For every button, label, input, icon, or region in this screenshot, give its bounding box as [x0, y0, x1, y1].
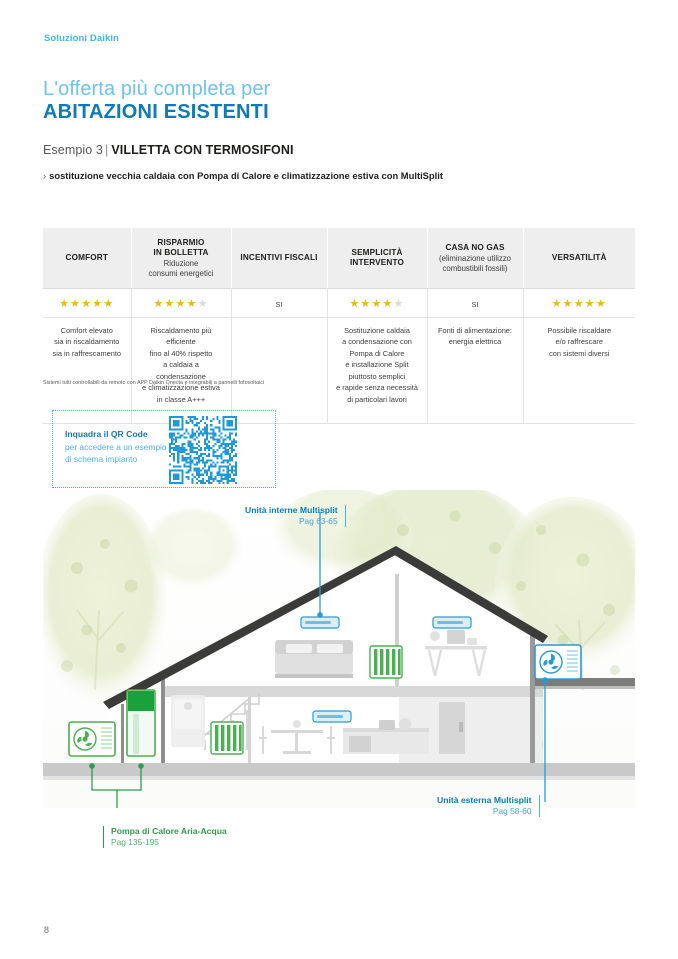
- qr-title: Inquadra il QR Code: [65, 429, 183, 441]
- indoor-unit-attic-right: [433, 617, 471, 628]
- example-name: VILLETTA CON TERMOSIFONI: [111, 143, 293, 157]
- page-title: ABITAZIONI ESISTENTI: [43, 101, 269, 124]
- example-label: Esempio 3: [43, 143, 103, 157]
- benefits-table: COMFORT RISPARMIO IN BOLLETTA Riduzione …: [43, 228, 635, 424]
- benefits-table-wrapper: COMFORT RISPARMIO IN BOLLETTA Riduzione …: [43, 228, 635, 424]
- description-cell-4: Fonti di alimentazione:energia elettrica: [427, 318, 523, 424]
- column-header-versatilita-title: VERSATILITÀ: [530, 253, 630, 263]
- rating-cell-3: ★★★★★: [327, 289, 427, 318]
- rating-cell-4: SI: [427, 289, 523, 318]
- example-bullet: ›sostituzione vecchia caldaia con Pompa …: [43, 170, 443, 181]
- indoor-unit-attic-left: [301, 617, 339, 628]
- description-cell-0: Comfort elevatosia in riscaldamentosia i…: [43, 318, 131, 424]
- callout-unita-esterna: Unità esterna Multisplit Pag 58-60: [437, 795, 540, 817]
- radiator-upstairs: [370, 646, 402, 678]
- description-cell-1: Riscaldamento più efficientefino al 40% …: [131, 318, 231, 424]
- callout-esterna-page: Pag 58-60: [437, 806, 532, 817]
- house-section-illustration: [43, 490, 635, 808]
- column-header-risparmio-l2: IN BOLLETTA: [138, 248, 225, 258]
- column-header-comfort-title: COMFORT: [49, 253, 125, 263]
- column-header-risparmio: RISPARMIO IN BOLLETTA Riduzione consumi …: [131, 228, 231, 289]
- column-header-casa-no-gas-sub1: (eliminazione utilizzo: [434, 254, 517, 264]
- star-rating-4: SI: [472, 300, 479, 309]
- outdoor-multisplit-unit: [535, 645, 581, 679]
- qr-body-line1: per accedere a un esempio: [65, 442, 183, 454]
- callout-esterna-title: Unità esterna Multisplit: [437, 795, 532, 806]
- column-header-risparmio-l1: RISPARMIO: [138, 238, 225, 248]
- column-header-semplicita: SEMPLICITÀ INTERVENTO: [327, 228, 427, 289]
- callout-pompa-title: Pompa di Calore Aria-Acqua: [111, 826, 227, 837]
- star-rating-0: ★★★★★: [59, 298, 114, 310]
- description-cell-3: Sostituzione caldaiaa condensazione conP…: [327, 318, 427, 424]
- qr-text-block: Inquadra il QR Code per accedere a un es…: [65, 429, 183, 466]
- storage-tank: [127, 690, 155, 756]
- chevron-right-icon: ›: [43, 170, 46, 181]
- example-bullet-text: sostituzione vecchia caldaia con Pompa d…: [49, 170, 443, 181]
- column-header-risparmio-sub1: Riduzione: [138, 259, 225, 269]
- ground-slab: [43, 763, 635, 776]
- column-header-versatilita: VERSATILITÀ: [523, 228, 635, 289]
- example-heading: Esempio 3|VILLETTA CON TERMOSIFONI: [43, 143, 294, 157]
- column-header-semplicita-l1: SEMPLICITÀ: [334, 248, 421, 258]
- column-header-risparmio-sub2: consumi energetici: [138, 269, 225, 279]
- qr-code-panel[interactable]: Inquadra il QR Code per accedere a un es…: [52, 410, 276, 488]
- page-root: Soluzioni Daikin L'offerta più completa …: [0, 0, 678, 959]
- column-header-casa-no-gas: CASA NO GAS (eliminazione utilizzo combu…: [427, 228, 523, 289]
- callout-pompa-page: Pag 135-195: [111, 837, 227, 848]
- rating-cell-2: SI: [231, 289, 327, 318]
- rating-cell-1: ★★★★★: [131, 289, 231, 318]
- column-header-incentivi: INCENTIVI FISCALI: [231, 228, 327, 289]
- description-cell-5: Possibile riscaldaree/o raffrescarecon s…: [523, 318, 635, 424]
- radiator-downstairs: [211, 722, 243, 754]
- rating-cell-5: ★★★★★: [523, 289, 635, 318]
- column-header-casa-no-gas-sub2: combustibili fossili): [434, 264, 517, 274]
- qr-code-image[interactable]: [169, 416, 237, 484]
- table-description-row: Comfort elevatosia in riscaldamentosia i…: [43, 318, 635, 424]
- indoor-unit-ground: [313, 711, 351, 722]
- column-header-comfort: COMFORT: [43, 228, 131, 289]
- page-subtitle: L'offerta più completa per: [43, 78, 270, 101]
- example-separator: |: [105, 143, 108, 157]
- star-rating-5: ★★★★★: [552, 298, 607, 310]
- column-header-semplicita-l2: INTERVENTO: [334, 258, 421, 268]
- column-header-incentivi-title: INCENTIVI FISCALI: [238, 253, 321, 263]
- heat-pump-unit: [69, 722, 115, 756]
- page-number: 8: [44, 925, 49, 935]
- star-rating-2: SI: [276, 300, 283, 309]
- star-rating-3: ★★★★★: [349, 298, 404, 310]
- star-rating-1: ★★★★★: [153, 298, 208, 310]
- qr-body-line2: di schema impianto: [65, 454, 183, 466]
- column-header-casa-no-gas-title: CASA NO GAS: [434, 243, 517, 253]
- brand-eyebrow: Soluzioni Daikin: [44, 33, 119, 44]
- table-header-row: COMFORT RISPARMIO IN BOLLETTA Riduzione …: [43, 228, 635, 289]
- callout-interne-title: Unità interne Multisplit: [245, 505, 338, 516]
- table-footnote: Sistemi tutti controllabili da remoto co…: [43, 380, 264, 386]
- table-rating-row: ★★★★★ ★★★★★ SI ★★★★★ SI ★★★★★: [43, 289, 635, 318]
- callout-interne-page: Pag 63-65: [245, 516, 338, 527]
- rating-cell-0: ★★★★★: [43, 289, 131, 318]
- callout-pompa-di-calore: Pompa di Calore Aria-Acqua Pag 135-195: [103, 826, 227, 848]
- bed-furniture: [275, 640, 353, 678]
- callout-unita-interne: Unità interne Multisplit Pag 63-65: [245, 505, 346, 527]
- description-cell-2: [231, 318, 327, 424]
